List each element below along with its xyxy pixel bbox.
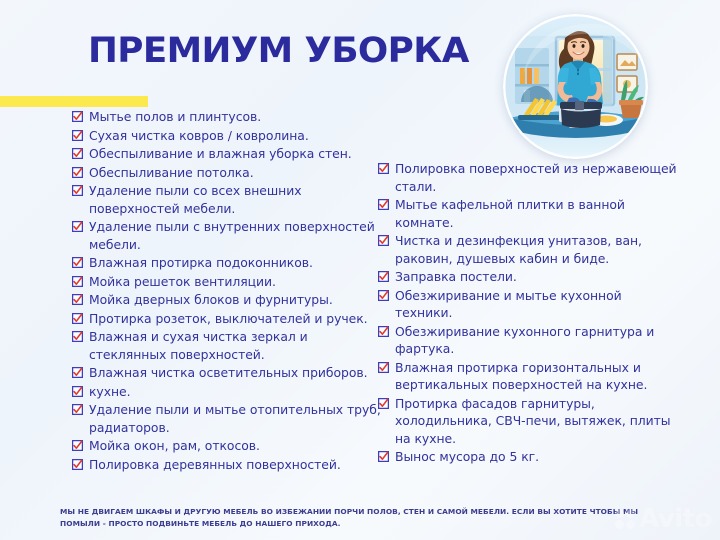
list-item: Полировка поверхностей из нержавеющей ст…	[378, 160, 678, 195]
list-item: Вынос мусора до 5 кг.	[378, 448, 678, 466]
list-item-label: Удаление пыли и мытье отопительных труб,…	[89, 401, 384, 436]
list-item-label: Влажная протирка подоконников.	[89, 254, 384, 272]
list-item: Полировка деревянных поверхностей.	[72, 456, 384, 474]
checkbox-checked-icon	[72, 185, 83, 196]
list-item: Обеспыливание и влажная уборка стен.	[72, 145, 384, 163]
list-item-label: Мойка дверных блоков и фурнитуры.	[89, 291, 384, 309]
list-item-label: Сухая чистка ковров / ковролина.	[89, 127, 384, 145]
checkbox-checked-icon	[378, 199, 389, 210]
checkbox-checked-icon	[72, 367, 83, 378]
list-item: Чистка и дезинфекция унитазов, ван, рако…	[378, 232, 678, 267]
list-item: Влажная протирка горизонтальных и вертик…	[378, 359, 678, 394]
list-item-label: Вынос мусора до 5 кг.	[395, 448, 678, 466]
list-item: Сухая чистка ковров / ковролина.	[72, 127, 384, 145]
list-item-label: Полировка поверхностей из нержавеющей ст…	[395, 160, 678, 195]
yellow-accent-bar	[0, 96, 148, 107]
checkbox-checked-icon	[72, 167, 83, 178]
list-item-label: Обезжиривание кухонного гарнитура и фарт…	[395, 323, 678, 358]
list-item-label: Чистка и дезинфекция унитазов, ван, рако…	[395, 232, 678, 267]
checkbox-checked-icon	[378, 451, 389, 462]
list-item: Протирка фасадов гарнитуры, холодильника…	[378, 395, 678, 448]
list-item-label: Обезжиривание и мытье кухонной техники.	[395, 287, 678, 322]
checkbox-checked-icon	[72, 257, 83, 268]
checkbox-checked-icon	[72, 331, 83, 342]
checkbox-checked-icon	[72, 386, 83, 397]
checkbox-checked-icon	[378, 326, 389, 337]
list-item: Влажная чистка осветительных приборов.	[72, 364, 384, 382]
checkbox-checked-icon	[378, 271, 389, 282]
list-item-label: кухне.	[89, 383, 384, 401]
list-item: Обезжиривание кухонного гарнитура и фарт…	[378, 323, 678, 358]
poster-canvas: ПРЕМИУМ УБОРКА	[0, 0, 720, 540]
avito-watermark-label: Avito	[639, 506, 712, 532]
checkbox-checked-icon	[72, 294, 83, 305]
checkbox-checked-icon	[72, 111, 83, 122]
checkbox-checked-icon	[72, 440, 83, 451]
services-right-column: Полировка поверхностей из нержавеющей ст…	[378, 160, 678, 467]
list-item-label: Обеспыливание потолка.	[89, 164, 384, 182]
list-item-label: Влажная чистка осветительных приборов.	[89, 364, 384, 382]
list-item: Мойка окон, рам, откосов.	[72, 437, 384, 455]
list-item: Удаление пыли со всех внешних поверхност…	[72, 182, 384, 217]
list-item-label: Удаление пыли со всех внешних поверхност…	[89, 182, 384, 217]
list-item: Удаление пыли и мытье отопительных труб,…	[72, 401, 384, 436]
checkbox-checked-icon	[72, 404, 83, 415]
list-item-label: Мытье полов и плинтусов.	[89, 108, 384, 126]
list-item-label: Мытье кафельной плитки в ванной комнате.	[395, 196, 678, 231]
checkbox-checked-icon	[72, 276, 83, 287]
list-item: Протирка розеток, выключателей и ручек.	[72, 310, 384, 328]
checkbox-checked-icon	[378, 235, 389, 246]
list-item: Мытье кафельной плитки в ванной комнате.	[378, 196, 678, 231]
list-item-label: Протирка фасадов гарнитуры, холодильника…	[395, 395, 678, 448]
list-item-label: Протирка розеток, выключателей и ручек.	[89, 310, 384, 328]
list-item-label: Удаление пыли с внутренних поверхностей …	[89, 218, 384, 253]
list-item: Мытье полов и плинтусов.	[72, 108, 384, 126]
checkbox-checked-icon	[378, 362, 389, 373]
services-left-column: Мытье полов и плинтусов. Сухая чистка ко…	[72, 108, 384, 474]
list-item-label: Полировка деревянных поверхностей.	[89, 456, 384, 474]
list-item: Влажная протирка подоконников.	[72, 254, 384, 272]
list-item-label: Влажная и сухая чистка зеркал и стеклянн…	[89, 328, 384, 363]
list-item: Мойка решеток вентиляции.	[72, 273, 384, 291]
list-item: Удаление пыли с внутренних поверхностей …	[72, 218, 384, 253]
list-item-label: Влажная протирка горизонтальных и вертик…	[395, 359, 678, 394]
list-item: Мойка дверных блоков и фурнитуры.	[72, 291, 384, 309]
list-item: Обезжиривание и мытье кухонной техники.	[378, 287, 678, 322]
list-item: кухне.	[72, 383, 384, 401]
list-item-label: Мойка окон, рам, откосов.	[89, 437, 384, 455]
checkbox-checked-icon	[72, 130, 83, 141]
checkbox-checked-icon	[72, 148, 83, 159]
checkbox-checked-icon	[378, 290, 389, 301]
page-title: ПРЕМИУМ УБОРКА	[88, 34, 469, 69]
list-item: Обеспыливание потолка.	[72, 164, 384, 182]
checkbox-checked-icon	[72, 221, 83, 232]
checkbox-checked-icon	[72, 459, 83, 470]
list-item: Влажная и сухая чистка зеркал и стеклянн…	[72, 328, 384, 363]
list-item: Заправка постели.	[378, 268, 678, 286]
circular-cleaner-photo	[503, 14, 648, 159]
checkbox-checked-icon	[378, 398, 389, 409]
footer-disclaimer: МЫ НЕ ДВИГАЕМ ШКАФЫ И ДРУГУЮ МЕБЕЛЬ ВО И…	[60, 506, 645, 529]
list-item-label: Заправка постели.	[395, 268, 678, 286]
checkbox-checked-icon	[72, 313, 83, 324]
checkbox-checked-icon	[378, 163, 389, 174]
list-item-label: Мойка решеток вентиляции.	[89, 273, 384, 291]
list-item-label: Обеспыливание и влажная уборка стен.	[89, 145, 384, 163]
